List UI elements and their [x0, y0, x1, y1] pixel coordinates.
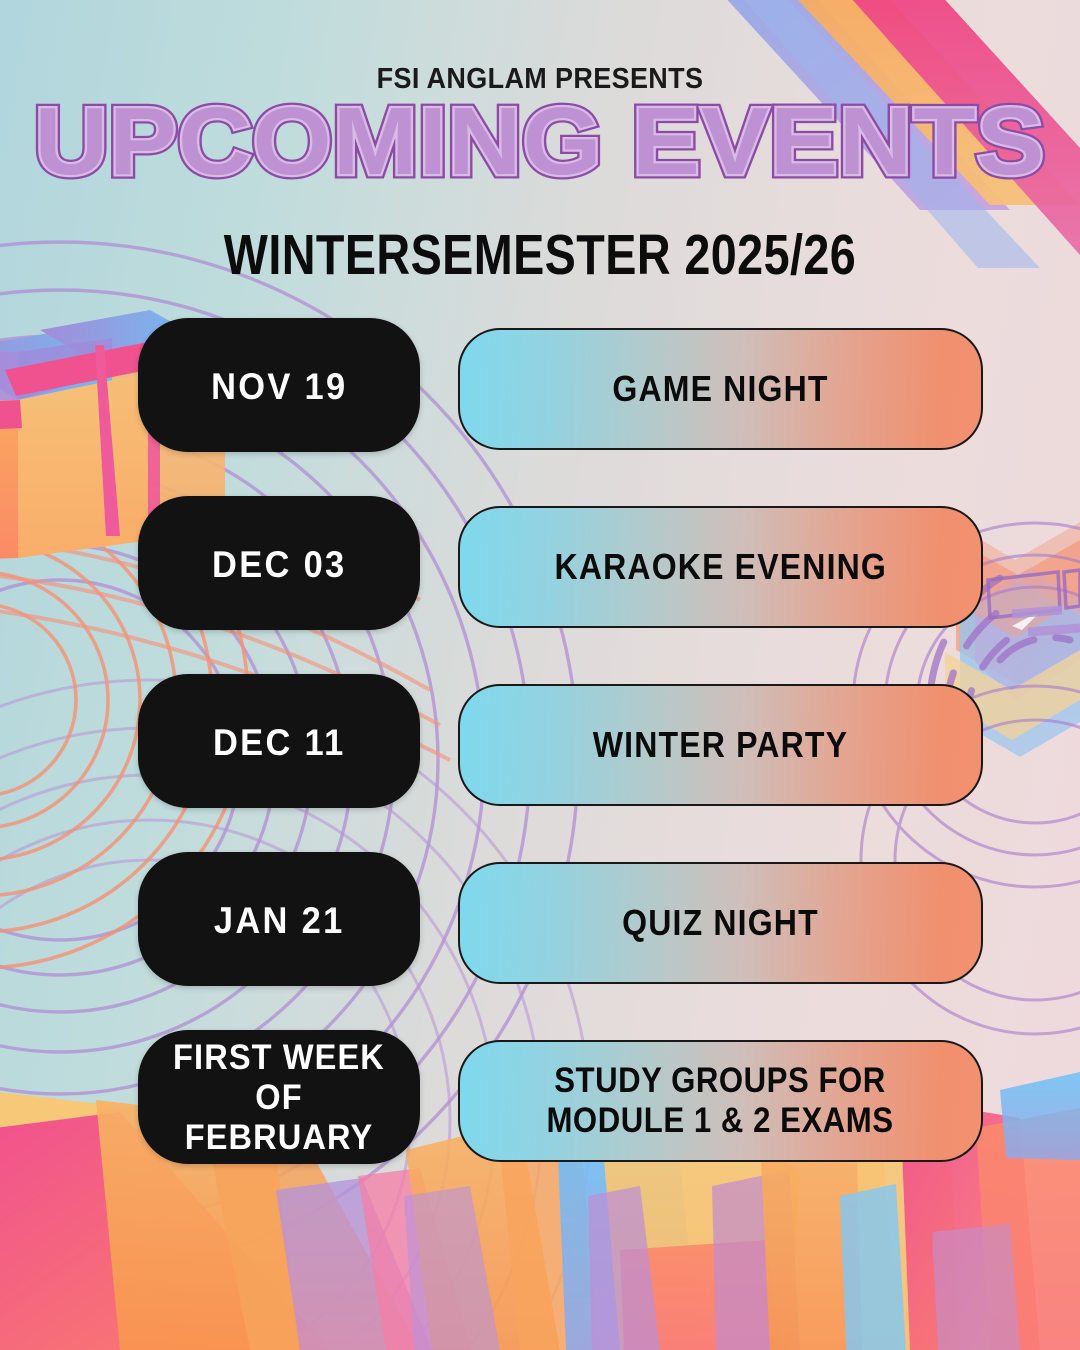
event-row: NOV 19 GAME NIGHT	[0, 318, 1080, 496]
poster-header: FSI ANGLAM PRESENTS UPCOMING EVENTS UPCO…	[0, 0, 1080, 288]
event-date-label: DEC 03	[202, 545, 355, 585]
event-date-pill[interactable]: DEC 11	[138, 674, 420, 808]
event-date-label: JAN 21	[204, 901, 353, 941]
event-date-label: FIRST WEEK OF FEBRUARY	[148, 1038, 410, 1158]
poster-canvas: FSI ANGLAM PRESENTS UPCOMING EVENTS UPCO…	[0, 0, 1080, 1350]
event-name-label: QUIZ NIGHT	[610, 903, 832, 943]
page-title: UPCOMING EVENTS UPCOMING EVENTS UPCOMING…	[0, 96, 1080, 200]
event-date-label: NOV 19	[202, 367, 357, 407]
event-date-pill[interactable]: DEC 03	[138, 496, 420, 630]
event-date-label: DEC 11	[203, 723, 354, 763]
page-title-fill: UPCOMING EVENTS	[0, 96, 1080, 187]
semester-subtitle: WINTERSEMESTER 2025/26	[97, 222, 983, 288]
event-date-pill[interactable]: FIRST WEEK OF FEBRUARY	[138, 1030, 420, 1164]
event-name-label: STUDY GROUPS FOR MODULE 1 & 2 EXAMS	[534, 1061, 906, 1141]
event-date-pill[interactable]: NOV 19	[138, 318, 420, 452]
event-name-pill[interactable]: GAME NIGHT	[458, 328, 983, 450]
event-row: DEC 11 WINTER PARTY	[0, 674, 1080, 852]
events-list: NOV 19 GAME NIGHT DEC 03 KARAOKE EVENING…	[0, 318, 1080, 1208]
event-name-pill[interactable]: STUDY GROUPS FOR MODULE 1 & 2 EXAMS	[458, 1040, 983, 1162]
event-row: FIRST WEEK OF FEBRUARY STUDY GROUPS FOR …	[0, 1030, 1080, 1208]
event-name-label: GAME NIGHT	[600, 369, 841, 409]
event-name-pill[interactable]: QUIZ NIGHT	[458, 862, 983, 984]
event-row: JAN 21 QUIZ NIGHT	[0, 852, 1080, 1030]
event-date-pill[interactable]: JAN 21	[138, 852, 420, 986]
event-name-pill[interactable]: WINTER PARTY	[458, 684, 983, 806]
event-name-label: KARAOKE EVENING	[542, 547, 899, 587]
event-name-pill[interactable]: KARAOKE EVENING	[458, 506, 983, 628]
event-name-label: WINTER PARTY	[580, 725, 860, 765]
event-row: DEC 03 KARAOKE EVENING	[0, 496, 1080, 674]
